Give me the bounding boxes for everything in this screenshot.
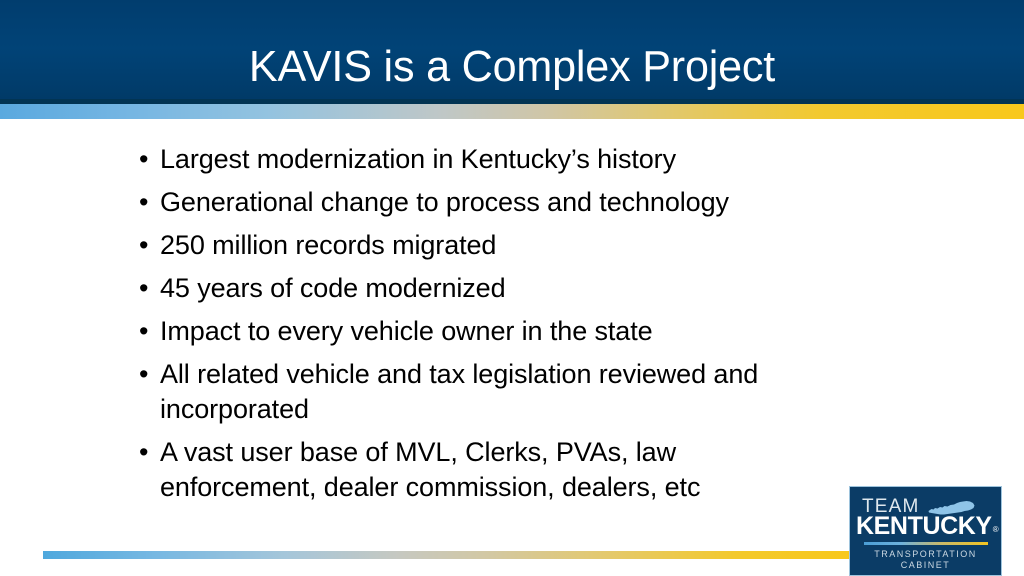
list-item: • 250 million records migrated (139, 228, 829, 263)
bullet-list: • Largest modernization in Kentucky’s hi… (139, 142, 829, 513)
list-item-text: A vast user base of MVL, Clerks, PVAs, l… (160, 435, 829, 505)
bullet-marker-icon: • (139, 357, 160, 392)
bullet-marker-icon: • (139, 435, 160, 470)
accent-bar-bottom (43, 551, 850, 559)
list-item: • A vast user base of MVL, Clerks, PVAs,… (139, 435, 829, 505)
list-item-text: 250 million records migrated (160, 228, 829, 263)
logo-kentucky-label: KENTUCKY (856, 513, 992, 539)
list-item: • Impact to every vehicle owner in the s… (139, 314, 829, 349)
bullet-marker-icon: • (139, 314, 160, 349)
page-title: KAVIS is a Complex Project (10, 42, 1014, 92)
list-item-text: Generational change to process and techn… (160, 185, 829, 220)
bullet-marker-icon: • (139, 271, 160, 306)
registered-trademark-icon: ® (993, 524, 999, 536)
list-item-text: All related vehicle and tax legislation … (160, 357, 829, 427)
list-item-text: Impact to every vehicle owner in the sta… (160, 314, 829, 349)
logo-kentucky-row: KENTUCKY ® (856, 513, 998, 539)
accent-bar-top (0, 104, 1024, 119)
logo-subtitle-line-2: CABINET (850, 559, 1001, 571)
list-item-text: Largest modernization in Kentucky’s hist… (160, 142, 829, 177)
list-item: • 45 years of code modernized (139, 271, 829, 306)
bullet-marker-icon: • (139, 228, 160, 263)
list-item: • Largest modernization in Kentucky’s hi… (139, 142, 829, 177)
logo-divider (864, 542, 988, 545)
list-item-text: 45 years of code modernized (160, 271, 829, 306)
list-item: • All related vehicle and tax legislatio… (139, 357, 829, 427)
team-kentucky-logo: TEAM KENTUCKY ® TRANSPORTATION CABINET (849, 486, 1002, 576)
logo-inner: TEAM KENTUCKY ® TRANSPORTATION CABINET (850, 487, 1001, 575)
slide: KAVIS is a Complex Project • Largest mod… (0, 0, 1024, 576)
bullet-marker-icon: • (139, 142, 160, 177)
list-item: • Generational change to process and tec… (139, 185, 829, 220)
bullet-marker-icon: • (139, 185, 160, 220)
